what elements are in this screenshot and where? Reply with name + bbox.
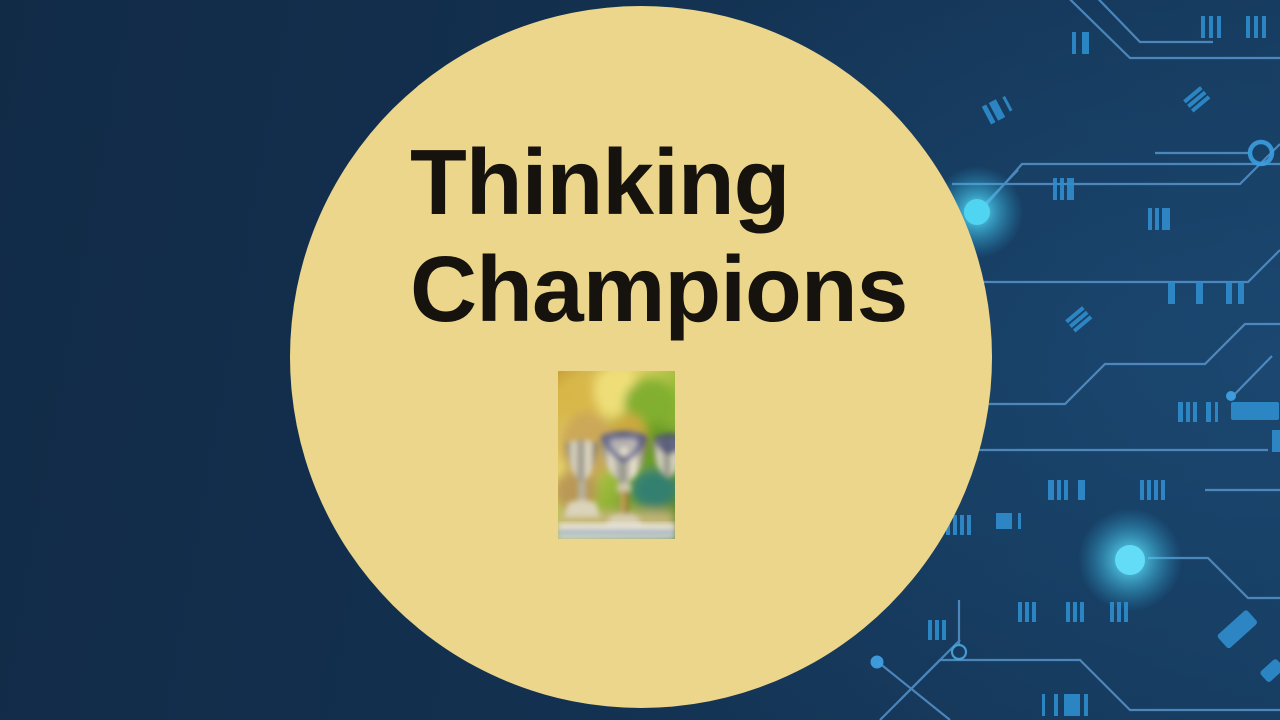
- presentation-slide: Thinking Champions: [0, 0, 1280, 720]
- circuit-node-ring: [1250, 142, 1272, 164]
- trophies-photo: [558, 371, 675, 539]
- title-circle-panel: [290, 6, 992, 708]
- circuit-chip: [1231, 402, 1279, 420]
- title-line-2: Champions: [410, 243, 930, 336]
- circuit-node-ring-small: [952, 645, 966, 659]
- page-title: Thinking Champions: [410, 136, 930, 336]
- title-line-1: Thinking: [410, 136, 930, 229]
